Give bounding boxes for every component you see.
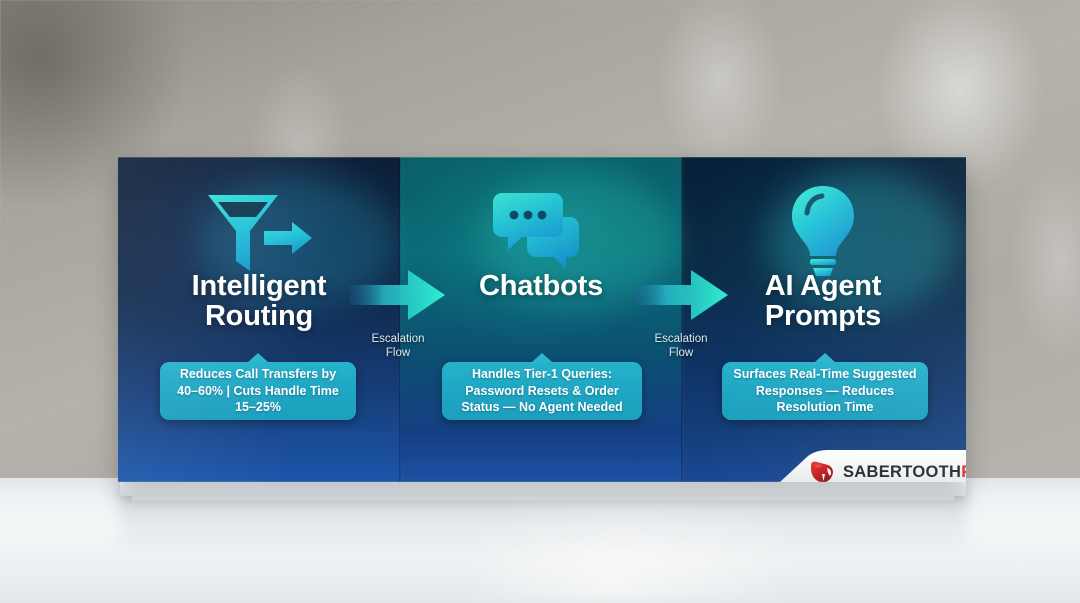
brand-name-primary: SABERTOOTH [843, 463, 961, 481]
callout-intelligent-routing: Reduces Call Transfers by 40–60% | Cuts … [160, 362, 356, 420]
connector-flow-2: Escalation Flow [631, 265, 731, 361]
label-line-1: Escalation [631, 333, 731, 347]
label-line-1: Escalation [348, 333, 448, 347]
label-line-2: Flow [348, 347, 448, 361]
label-line-2: Flow [631, 347, 731, 361]
connector-flow-1: Escalation Flow [348, 265, 448, 361]
callout-chatbots: Handles Tier-1 Queries: Password Resets … [442, 362, 642, 420]
funnel-arrow-icon [178, 183, 338, 283]
infographic-card: Intelligent Routing Reduces Call Transfe… [118, 157, 966, 482]
card-reflection [120, 496, 966, 556]
right-arrow-icon [631, 265, 731, 325]
lightbulb-icon [743, 179, 903, 283]
card-stand-base [120, 482, 966, 496]
sabertooth-head-icon [808, 460, 835, 482]
photo-scene: Intelligent Routing Reduces Call Transfe… [0, 0, 1080, 603]
chat-bubbles-icon [460, 183, 620, 283]
brand-wordmark: SABERTOOTHPRO [843, 463, 966, 482]
callout-ai-agent-prompts: Surfaces Real-Time Suggested Responses —… [722, 362, 928, 420]
right-arrow-icon [348, 265, 448, 325]
brand-name-secondary: PRO [961, 463, 966, 481]
brand-logo: SABERTOOTHPRO [808, 460, 966, 482]
card-stand-base-shadow [132, 496, 954, 501]
connector-label-1: Escalation Flow [348, 333, 448, 361]
connector-label-2: Escalation Flow [631, 333, 731, 361]
